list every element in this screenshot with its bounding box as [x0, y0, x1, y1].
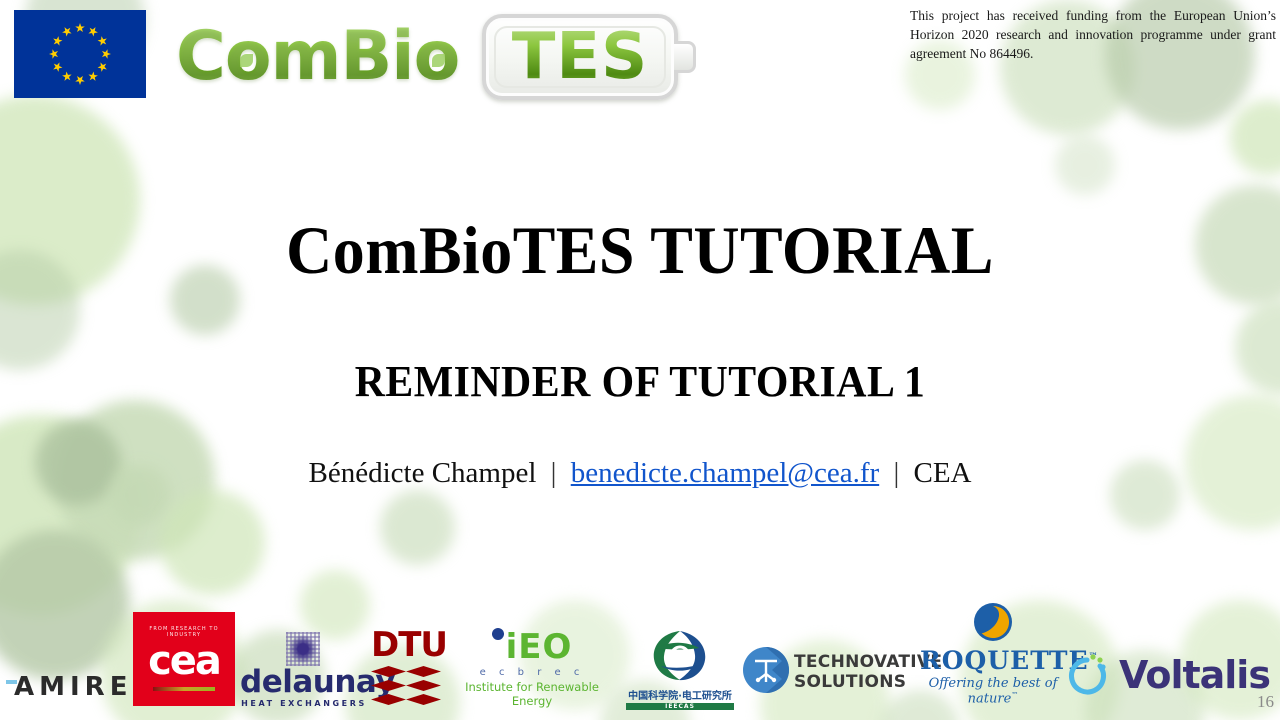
cas-emblem-icon — [649, 628, 711, 686]
byline-separator: | — [893, 457, 899, 489]
page-subtitle: REMINDER OF TUTORIAL 1 — [32, 352, 1248, 412]
partner-logo-cea: FROM RESEARCH TO INDUSTRY cea — [133, 612, 235, 706]
technovative-circle-icon — [742, 646, 790, 694]
delaunay-dot-matrix-icon — [286, 632, 320, 666]
eu-funding-statement: This project has received funding from t… — [910, 6, 1276, 63]
cas-chinese-name: 中国科学院·电工研究所 — [626, 687, 734, 702]
partner-logo-cas-ieecas: 中国科学院·电工研究所 IEECAS — [626, 628, 734, 710]
european-union-flag-icon — [14, 10, 146, 98]
delaunay-tagline: HEAT EXCHANGERS — [240, 699, 368, 708]
partner-logo-voltalis: Voltalis — [1063, 652, 1113, 702]
combiotes-logo-wordmark: ComBio — [176, 12, 459, 102]
dtu-chevron-icon — [371, 666, 441, 705]
page-title: ComBioTES TUTORIAL — [38, 208, 1241, 292]
partner-logo-dtu: DTU — [371, 628, 441, 708]
partner-logo-delaunay: delaunay HEAT EXCHANGERS — [240, 666, 368, 708]
partner-logo-technovative-solutions: TECHNOVATIVE SOLUTIONS — [742, 646, 790, 698]
leaf-accent-icon — [432, 54, 445, 67]
partner-logo-ieo: iEO e c b r e c Institute for Renewable … — [452, 628, 612, 708]
roquette-emblem-icon — [973, 602, 1013, 642]
voltalis-wordmark: Voltalis — [1119, 654, 1270, 696]
byline-separator: | — [551, 457, 557, 489]
author-organisation: CEA — [914, 457, 972, 489]
author-byline: Bénédicte Champel | benedicte.champel@ce… — [0, 452, 1280, 494]
ieo-wordmark: iEO — [452, 628, 612, 665]
dtu-wordmark: DTU — [371, 628, 441, 662]
cea-wordmark: cea — [133, 638, 235, 684]
partner-logo-roquette: ROQUETTE™ Offering the best of nature™ — [920, 602, 1066, 706]
ieo-subtitle-ecbrec: e c b r e c — [452, 667, 612, 678]
voltalis-circle-icon — [1063, 652, 1113, 700]
battery-terminal-icon — [674, 41, 696, 73]
author-name: Bénédicte Champel — [309, 457, 537, 489]
delaunay-wordmark: delaunay — [240, 666, 368, 698]
cea-gradient-bar — [153, 687, 215, 691]
partner-logo-bar: AMIRES FROM RESEARCH TO INDUSTRY cea del… — [0, 604, 1280, 720]
cas-acronym: IEECAS — [626, 703, 734, 710]
page-number: 16 — [1257, 692, 1274, 712]
presentation-slide: ComBio TES This project has received fun… — [0, 0, 1280, 720]
ieo-label: iEO — [506, 627, 573, 667]
cea-tagline: FROM RESEARCH TO INDUSTRY — [133, 626, 235, 638]
roquette-wordmark: ROQUETTE™ — [920, 643, 1066, 675]
leaf-accent-icon — [240, 54, 253, 67]
combiotes-project-logo: ComBio TES — [176, 8, 706, 106]
ieo-dot-icon — [492, 628, 504, 640]
ieo-subtitle-full: Institute for Renewable Energy — [452, 680, 612, 708]
combiotes-logo-tes: TES — [494, 18, 666, 96]
roquette-tagline: Offering the best of nature™ — [920, 676, 1066, 706]
author-email-link[interactable]: benedicte.champel@cea.fr — [571, 457, 879, 489]
